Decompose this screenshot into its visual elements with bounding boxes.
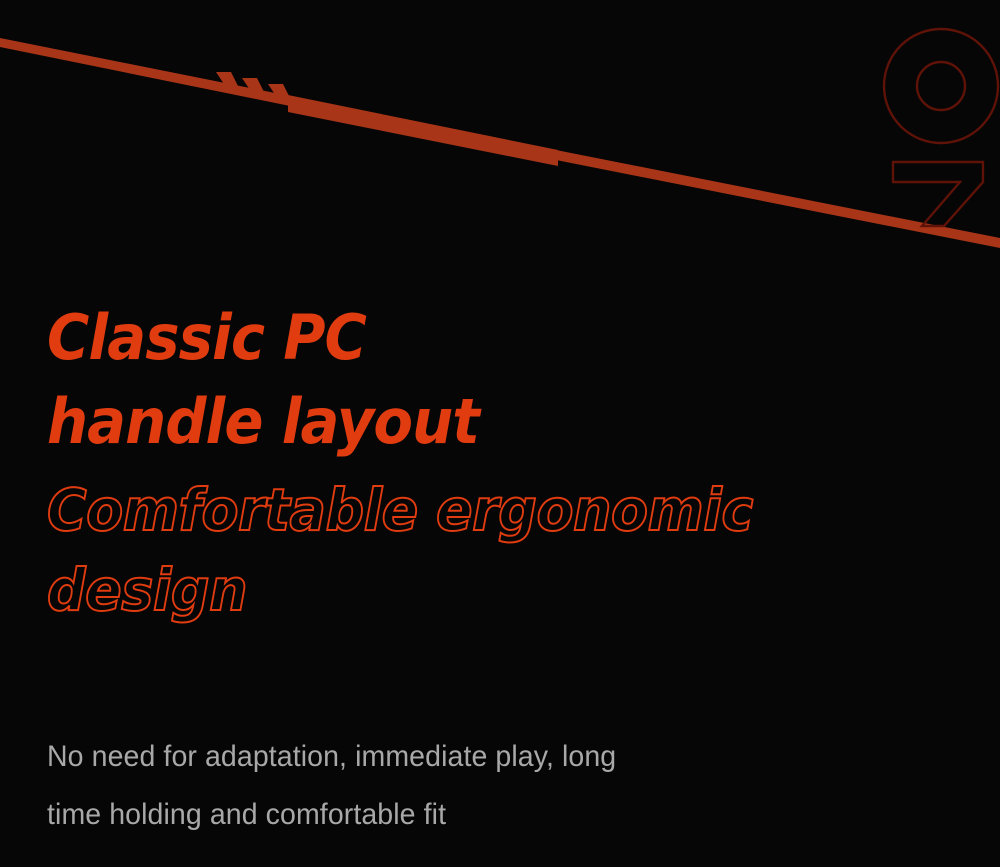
- diagonal-accent-stripe-thick: [288, 95, 558, 166]
- headline-outline-line-1: Comfortable ergonomic: [47, 470, 921, 550]
- headline-solid-line-2: handle layout: [47, 380, 921, 464]
- body-copy-line-2: time holding and comfortable fit: [47, 786, 864, 844]
- headline-solid-line-1: Classic PC: [47, 296, 921, 380]
- diagonal-accent-stripe-thin-left: [0, 38, 290, 106]
- diagonal-accent-stripe-thin-right: [556, 150, 1000, 248]
- body-copy-block: No need for adaptation, immediate play, …: [47, 728, 907, 844]
- concentric-ring-inner: [917, 62, 965, 110]
- headline-outline-group: Comfortable ergonomic design: [47, 470, 987, 630]
- sawtooth-notches: [216, 72, 290, 98]
- promo-banner: Classic PC handle layout Comfortable erg…: [0, 0, 1000, 867]
- headline-block: Classic PC handle layout Comfortable erg…: [47, 296, 987, 630]
- body-copy-line-1: No need for adaptation, immediate play, …: [47, 728, 864, 786]
- concentric-ring-outer: [884, 29, 998, 143]
- numeral-seven-outline: [893, 162, 983, 226]
- headline-outline-line-2: design: [47, 550, 921, 630]
